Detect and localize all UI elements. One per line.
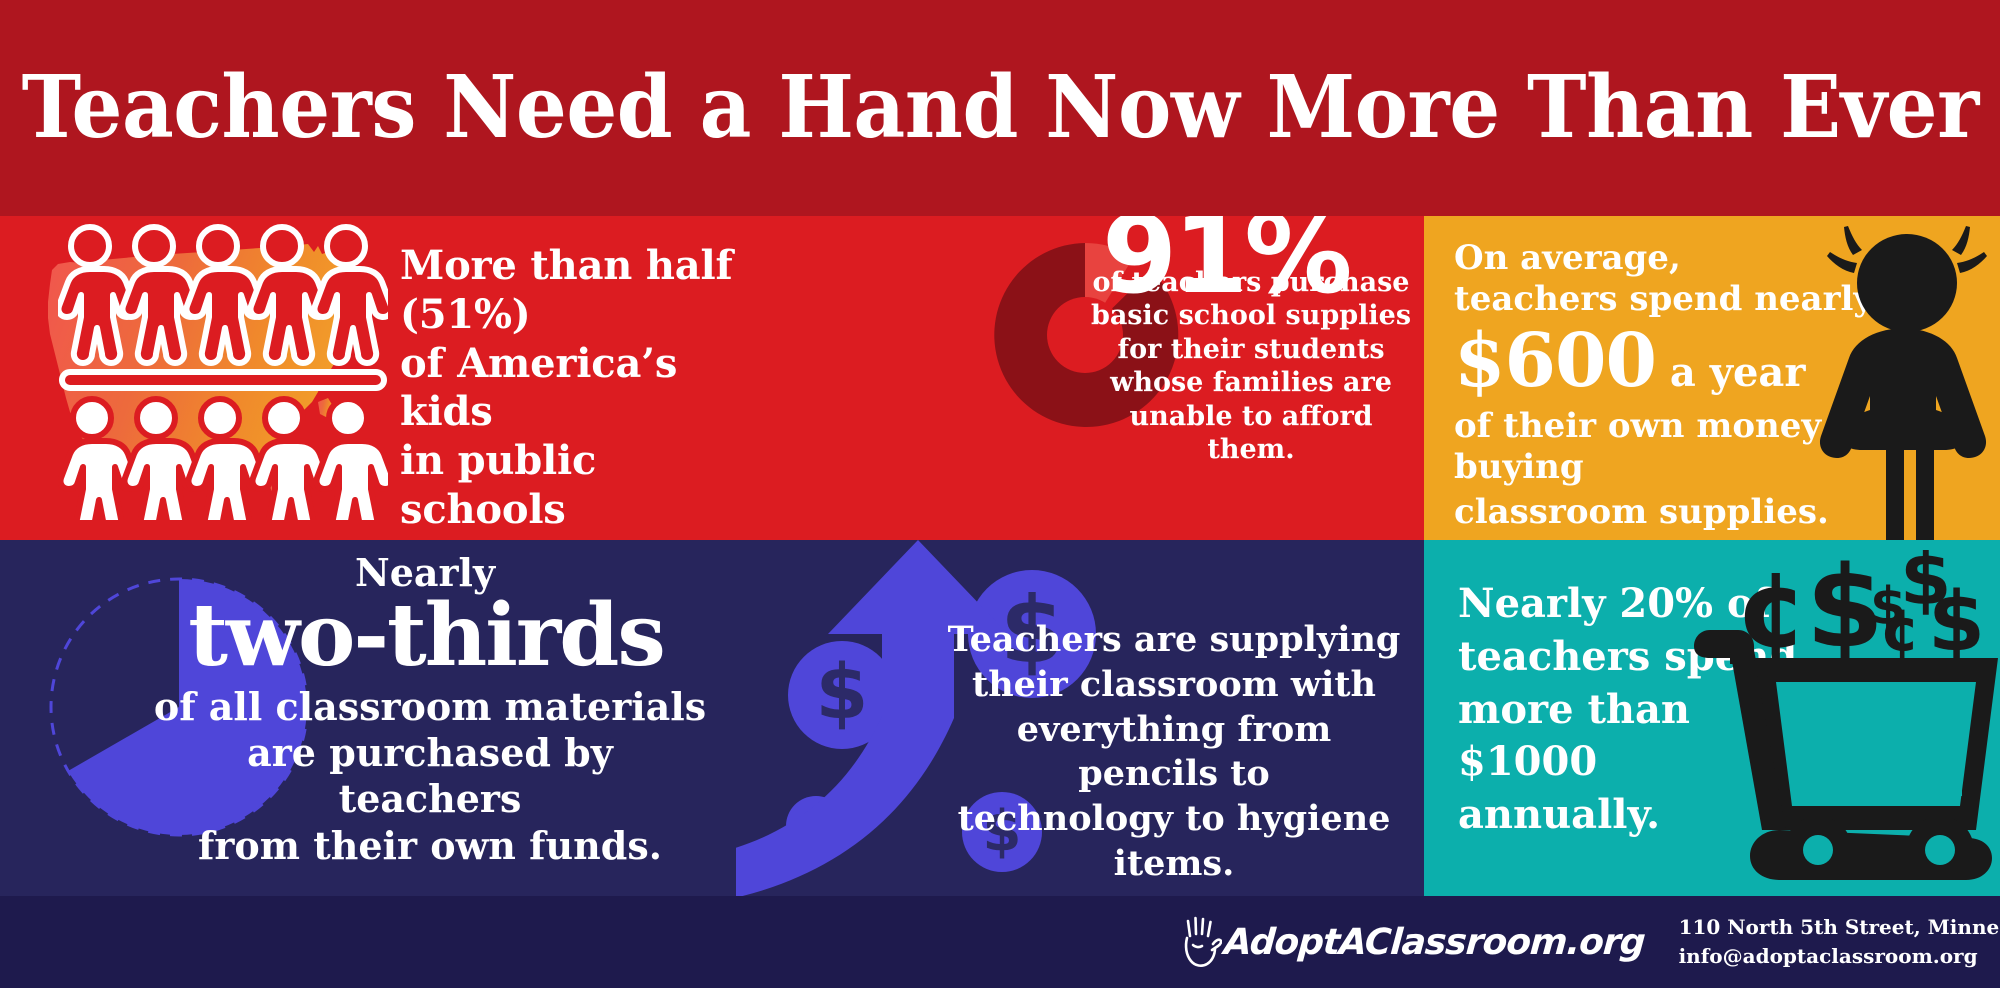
brand-wordmark[interactable]: AdoptAClassroom.org [1223, 922, 1646, 963]
panel-spend-600: On average, teachers spend nearly $600 a… [1424, 216, 2000, 540]
frustrated-teacher-icon [1790, 216, 2000, 540]
footer-address: 110 North 5th Street, Minneapolis, MN 55… [1679, 913, 2000, 942]
poverty-line-1: More than half (51%) [400, 242, 760, 340]
arrow-line-2: their classroom with [944, 663, 1404, 708]
footer-contact: 110 North 5th Street, Minneapolis, MN 55… [1679, 913, 2000, 971]
svg-text:$: $ [816, 647, 869, 736]
two-thirds-line-3: from their own funds. [150, 823, 710, 869]
two-thirds-line-2: are purchased by teachers [150, 730, 710, 823]
panel-poverty: More than half (51%) of America’s kids i… [0, 216, 942, 540]
people-pictogram-group [58, 220, 388, 520]
footer-email[interactable]: info@adoptaclassroom.org [1679, 942, 2000, 971]
two-thirds-statement: Nearly two-thirds of all classroom mater… [150, 554, 710, 869]
infographic-root: Teachers Need a Hand Now More Than Ever [0, 0, 2000, 988]
supplies-line-2: basic school supplies [1084, 299, 1418, 332]
poverty-line-2: of America’s kids [400, 340, 760, 438]
arrow-line-1: Teachers are supplying [944, 618, 1404, 663]
poverty-statement: More than half (51%) of America’s kids i… [400, 242, 760, 540]
arrow-line-4: technology to hygiene items. [944, 797, 1404, 887]
panel-supplies: 91% of teachers purchase basic school su… [942, 216, 1424, 540]
two-thirds-stat: two-thirds [142, 592, 710, 680]
panel-two-thirds: Nearly two-thirds of all classroom mater… [0, 540, 736, 896]
two-thirds-body: of all classroom materials are purchased… [150, 684, 710, 869]
spend600-amount-suffix: a year [1656, 349, 1805, 396]
shopping-cart-icon: ¢ $ $ $ ¢ $ [1684, 550, 2000, 880]
panel-arrow: $ $ $ $ Teachers are supplying their cla… [736, 540, 1424, 896]
panel-cart: Nearly 20% of teachers spend more than $… [1424, 540, 2000, 896]
supplies-line-5: unable to afford them. [1084, 400, 1418, 467]
page-title: Teachers Need a Hand Now More Than Ever [21, 65, 1978, 151]
supplies-description: of teachers purchase basic school suppli… [1084, 266, 1418, 467]
arrow-line-3: everything from pencils to [944, 708, 1404, 798]
svg-text:¢: ¢ [1880, 596, 1920, 664]
supplies-line-1: of teachers purchase [1084, 266, 1418, 299]
poverty-line-3: in public schools [400, 437, 760, 535]
open-hand-icon [1180, 914, 1222, 970]
spend600-amount: $600 [1454, 318, 1656, 404]
footer-content: AdoptAClassroom.org 110 North 5th Street… [1180, 896, 2000, 988]
arrow-statement: Teachers are supplying their classroom w… [944, 618, 1404, 887]
svg-text:$: $ [1928, 575, 1985, 670]
two-thirds-line-1: of all classroom materials [150, 684, 710, 730]
supplies-line-4: whose families are [1084, 366, 1418, 399]
footer-bar: AdoptAClassroom.org 110 North 5th Street… [0, 896, 2000, 988]
supplies-line-3: for their students [1084, 333, 1418, 366]
header-banner: Teachers Need a Hand Now More Than Ever [0, 0, 2000, 216]
